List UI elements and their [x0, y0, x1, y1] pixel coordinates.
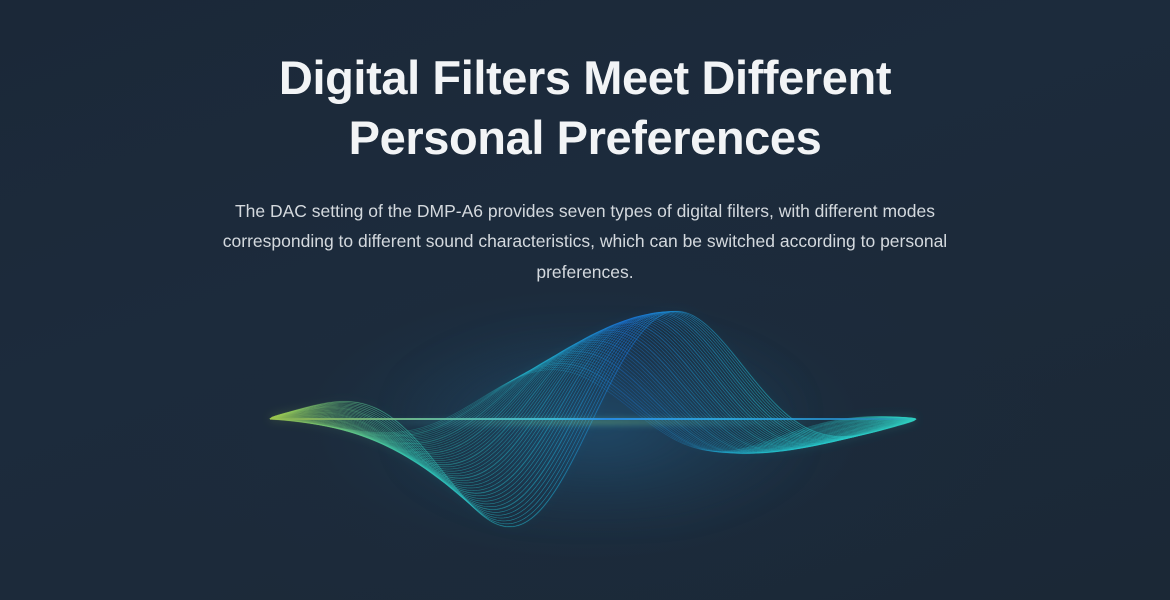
headline-line-2: Personal Preferences: [0, 108, 1170, 168]
hero-text-block: Digital Filters Meet Different Personal …: [0, 0, 1170, 287]
waveform-curve: [270, 329, 916, 467]
page-title: Digital Filters Meet Different Personal …: [0, 0, 1170, 168]
waveform-curve: [270, 317, 916, 490]
waveform-curve: [270, 318, 916, 488]
hero-banner: Digital Filters Meet Different Personal …: [0, 0, 1170, 600]
page-subtitle: The DAC setting of the DMP-A6 provides s…: [190, 168, 980, 286]
waveform-curve: [270, 313, 916, 507]
waveform-curve-layer: [270, 311, 916, 526]
waveform-curve: [270, 322, 916, 478]
waveform-curve: [270, 319, 916, 485]
headline-line-1: Digital Filters Meet Different: [0, 48, 1170, 108]
subtitle-line-1: The DAC setting of the DMP-A6 provides s…: [235, 201, 878, 221]
waveform-curve-glow: [270, 322, 916, 478]
